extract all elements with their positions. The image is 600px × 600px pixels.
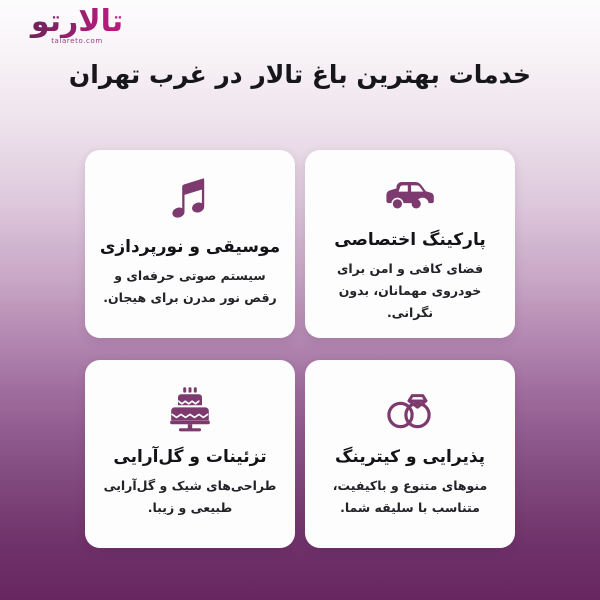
wedding-cake-icon [168, 382, 212, 436]
service-card-description: منوهای متنوع و باکیفیت، متناسب با سلیقه … [319, 475, 501, 519]
service-card-parking[interactable]: پارکینگ اختصاصی فضای کافی و امن برای خود… [305, 150, 515, 338]
service-card-description: طراحی‌های شیک و گل‌آرایی طبیعی و زیبا. [99, 475, 281, 519]
services-grid: پارکینگ اختصاصی فضای کافی و امن برای خود… [85, 150, 515, 548]
service-card-music-lighting[interactable]: موسیقی و نورپردازی سیستم صوتی حرفه‌ای و … [85, 150, 295, 338]
brand-logo-text: تالارتو [12, 6, 142, 38]
service-card-title: تزئینات و گل‌آرایی [113, 446, 266, 468]
service-card-title: موسیقی و نورپردازی [100, 236, 280, 258]
brand-logo[interactable]: تالارتو talareto.com [12, 6, 142, 45]
service-card-description: سیستم صوتی حرفه‌ای و رقص نور مدرن برای ه… [99, 265, 281, 309]
service-card-description: فضای کافی و امن برای خودروی مهمانان، بدو… [319, 258, 501, 324]
poster-canvas: تالارتو talareto.com خدمات بهترین باغ تا… [0, 0, 600, 600]
wedding-rings-icon [383, 382, 437, 436]
service-card-title: پارکینگ اختصاصی [334, 229, 485, 251]
service-card-decoration[interactable]: تزئینات و گل‌آرایی طراحی‌های شیک و گل‌آر… [85, 360, 295, 548]
page-title: خدمات بهترین باغ تالار در غرب تهران [0, 58, 600, 92]
music-note-icon [170, 172, 210, 226]
service-card-title: پذیرایی و کیترینگ [335, 446, 485, 468]
car-icon [385, 172, 435, 219]
service-card-catering[interactable]: پذیرایی و کیترینگ منوهای متنوع و باکیفیت… [305, 360, 515, 548]
